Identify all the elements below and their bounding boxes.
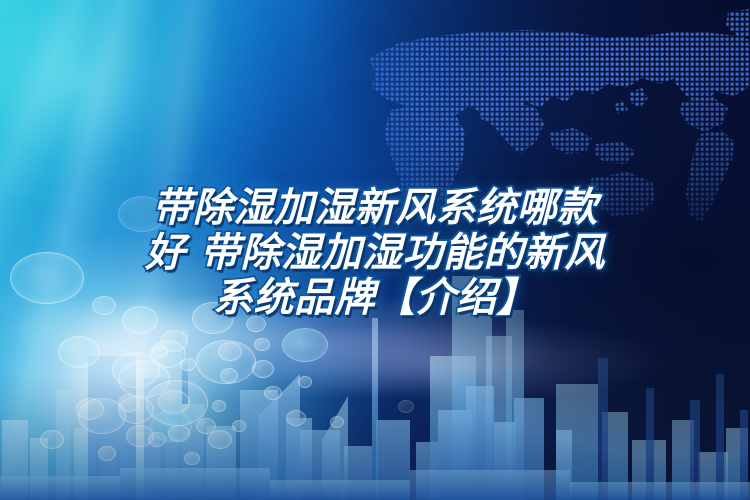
headline-line-3: 系统品牌【介绍】 xyxy=(24,276,726,321)
banner-image: 带除湿加湿新风系统哪款 好 带除湿加湿功能的新风 系统品牌【介绍】 xyxy=(0,0,750,500)
headline-line-1: 带除湿加湿新风系统哪款 xyxy=(24,186,726,231)
headline-line-2: 好 带除湿加湿功能的新风 xyxy=(24,231,726,276)
headline-block: 带除湿加湿新风系统哪款 好 带除湿加湿功能的新风 系统品牌【介绍】 xyxy=(0,186,750,321)
